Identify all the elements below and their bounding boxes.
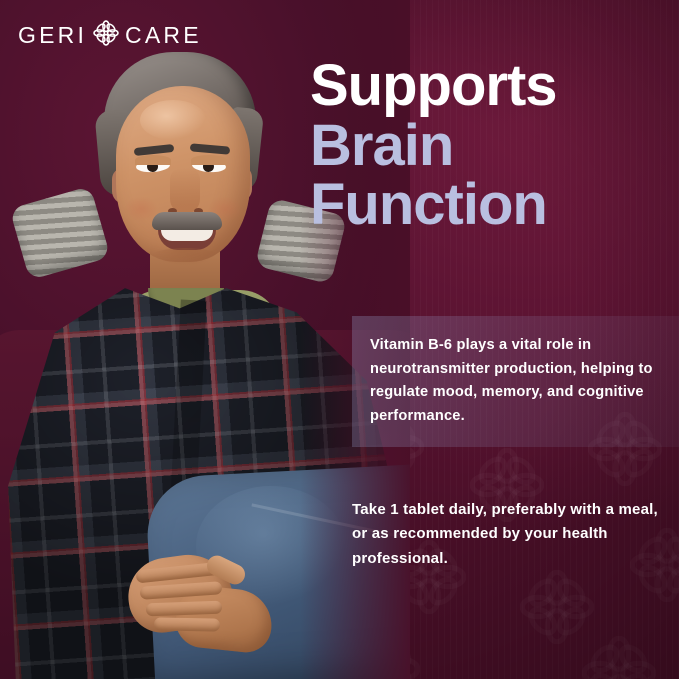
finger	[146, 601, 222, 617]
mustache	[152, 212, 222, 230]
dosage-text: Take 1 tablet daily, preferably with a m…	[352, 498, 668, 571]
forehead-highlight	[140, 100, 206, 140]
eyelid-right	[191, 155, 227, 165]
eyelid-left	[135, 155, 171, 165]
flower-logo-icon	[93, 20, 119, 51]
teeth	[161, 230, 213, 241]
nose	[170, 168, 200, 214]
headline-line-2: Brain	[310, 118, 670, 174]
dosage-instructions: Take 1 tablet daily, preferably with a m…	[352, 498, 668, 571]
headline-block: Supports Brain Function	[310, 58, 670, 233]
brand-name-right: CARE	[125, 24, 202, 47]
brand-name-left: GERI	[18, 24, 87, 47]
product-lifestyle-banner: GERI CARE Supports Brain Function	[0, 0, 679, 679]
sleeve-cuff-left	[9, 186, 110, 280]
chin-shadow	[150, 248, 220, 266]
finger	[154, 617, 220, 631]
headline-line-1: Supports	[310, 58, 670, 114]
benefit-info-card: Vitamin B-6 plays a vital role in neurot…	[352, 316, 679, 447]
headline-line-3: Function	[310, 177, 670, 233]
benefit-info-text: Vitamin B-6 plays a vital role in neurot…	[370, 334, 679, 429]
brand-logo: GERI CARE	[18, 20, 202, 51]
